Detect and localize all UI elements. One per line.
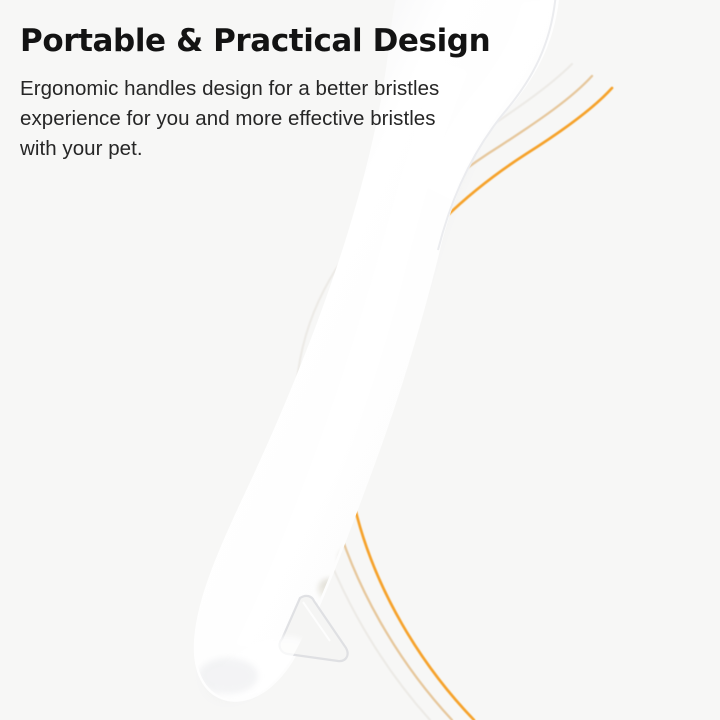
page-subtitle: Ergonomic handles design for a better br… — [20, 74, 440, 164]
text-block: Portable & Practical Design Ergonomic ha… — [20, 22, 460, 164]
grip-ridge — [481, 242, 569, 282]
grip-ridge — [317, 568, 429, 600]
grip-ridge — [357, 499, 485, 538]
product-feature-image: Portable & Practical Design Ergonomic ha… — [0, 0, 720, 720]
grip-ridge — [451, 310, 563, 355]
page-title: Portable & Practical Design — [20, 22, 460, 60]
grip-ridge — [493, 211, 567, 248]
grip-ridge — [377, 462, 509, 504]
grip-ridge — [467, 275, 569, 318]
grip-ridge — [415, 384, 541, 429]
grip-ridge — [433, 346, 553, 392]
grip-ridge — [337, 535, 459, 571]
grip-ridge — [397, 423, 527, 467]
